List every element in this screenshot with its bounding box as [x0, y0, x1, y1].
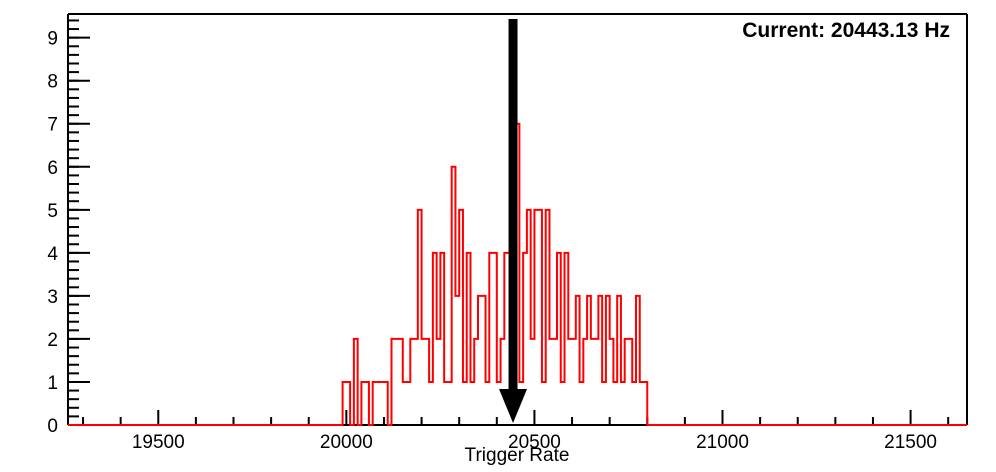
trigger-rate-histogram: 0123456789 1950020000205002100021500 Tri…: [0, 0, 996, 472]
y-axis-tick-label: 0: [47, 416, 58, 437]
y-axis-tick-label: 5: [47, 201, 58, 222]
x-axis-tick-label: 21000: [696, 432, 749, 453]
x-axis-tick-label: 19500: [132, 432, 185, 453]
y-axis-tick-label: 9: [47, 29, 58, 50]
x-axis-tick-label: 20000: [320, 432, 373, 453]
y-axis-tick-label: 7: [47, 115, 58, 136]
x-axis-tick-label: 21500: [884, 432, 937, 453]
marker-arrowhead-icon: [499, 389, 527, 423]
histogram-canvas: 0123456789 1950020000205002100021500 Tri…: [0, 0, 996, 472]
y-axis-tick-label: 4: [47, 244, 58, 265]
x-axis-title: Trigger Rate: [465, 445, 570, 466]
y-axis-tick-label: 8: [47, 72, 58, 93]
current-rate-label: Current: 20443.13 Hz: [742, 19, 950, 42]
y-axis-tick-label: 3: [47, 287, 58, 308]
y-axis-tick-label: 2: [47, 330, 58, 351]
y-axis-tick-label: 1: [47, 373, 58, 394]
y-axis-tick-label: 6: [47, 158, 58, 179]
